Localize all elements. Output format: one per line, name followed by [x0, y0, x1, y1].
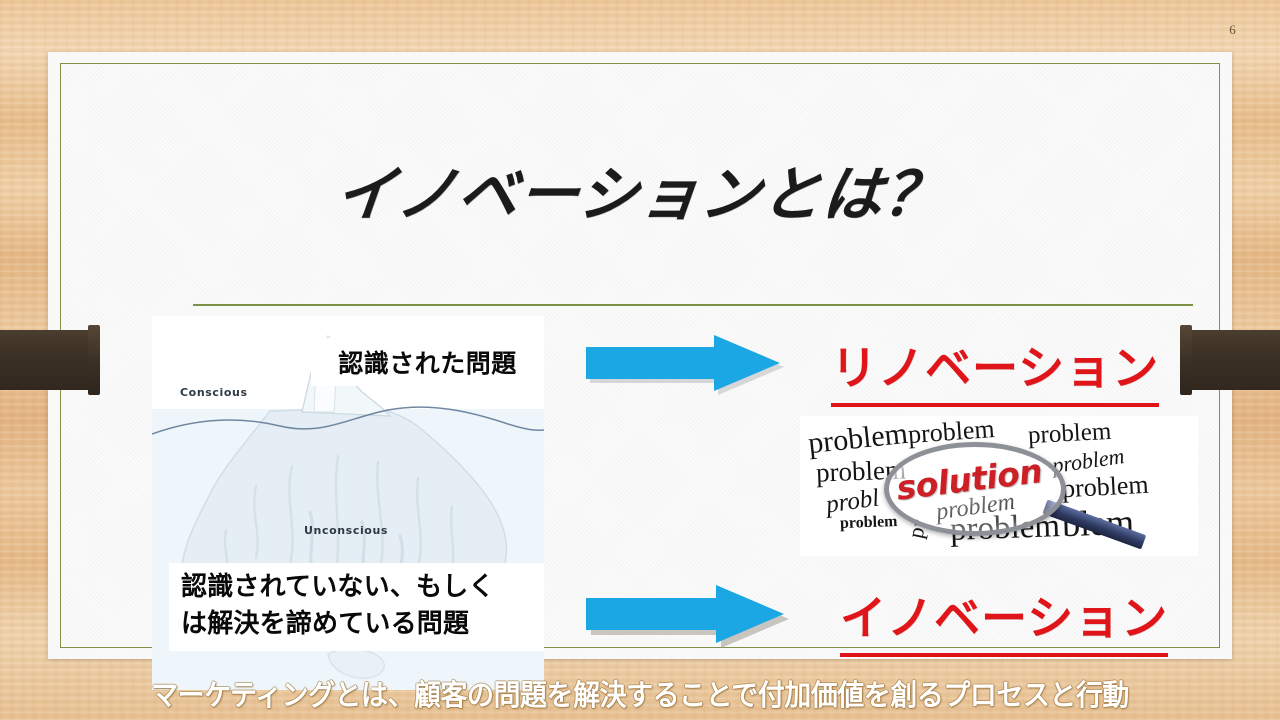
slide-root: 6 イノベーションとは？	[0, 0, 1280, 720]
problem-word: problem	[840, 513, 898, 533]
label-recognized-problem: 認識された問題	[311, 338, 544, 386]
problem-word: problem	[1061, 470, 1149, 504]
slide-content-card: イノベーションとは？	[48, 52, 1232, 659]
page-number: 6	[1229, 22, 1236, 38]
iceberg-caption-unconscious: Unconscious	[304, 524, 388, 537]
label-unrecognized-line-2: は解決を諦めている問題	[181, 606, 544, 643]
arrow-to-renovation-icon	[580, 333, 786, 395]
iceberg-figure: Conscious Unconscious 認識された問題 認識されていない、も…	[152, 316, 544, 690]
decorative-rod-right	[1180, 330, 1280, 390]
page-title: イノベーションとは？	[45, 164, 1236, 227]
decorative-rod-left	[0, 330, 100, 390]
problem-solution-figure: problemproblemproblemproblemproblemprobl…	[800, 416, 1198, 556]
label-innovation: イノベーション	[840, 582, 1168, 657]
iceberg-caption-conscious: Conscious	[180, 386, 248, 399]
bottom-banner-text: マーケティングとは、顧客の問題を解決することで付加価値を創るプロセスと行動	[45, 672, 1235, 718]
label-unrecognized-line-1: 認識されていない、もしく	[181, 569, 544, 606]
title-divider-rule	[193, 304, 1193, 306]
label-unrecognized-problem: 認識されていない、もしく は解決を諦めている問題	[169, 563, 544, 651]
label-renovation: リノベーション	[831, 332, 1159, 407]
arrow-to-innovation-icon	[580, 582, 790, 648]
label-recognized-problem-text: 認識された問題	[338, 344, 517, 380]
